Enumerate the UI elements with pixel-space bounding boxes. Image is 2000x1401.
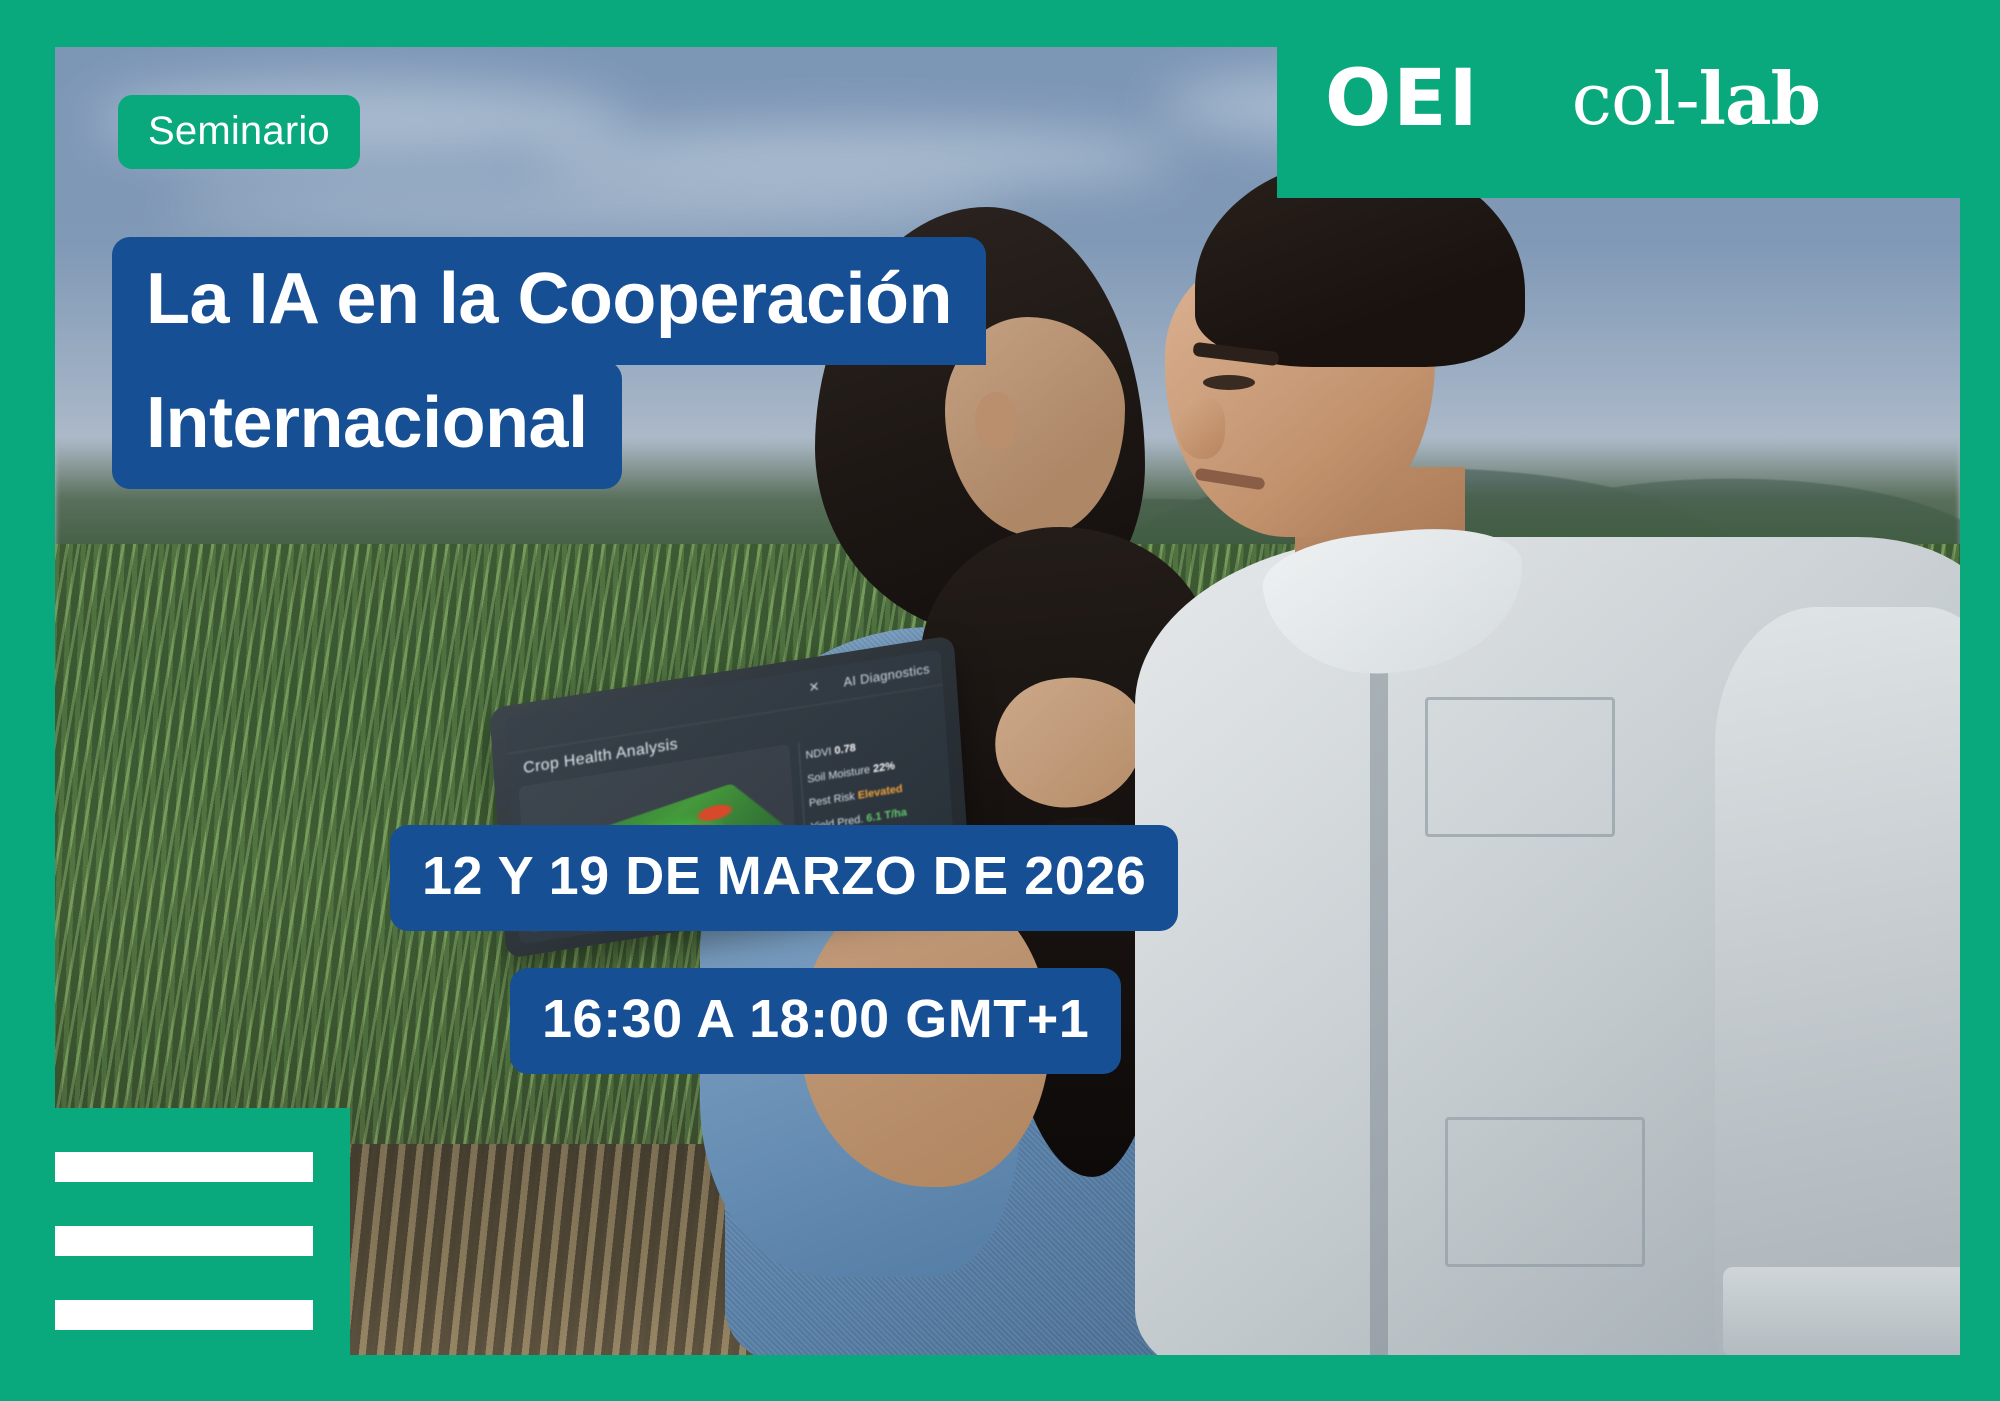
metric-label: Pest Risk [809, 790, 856, 809]
man-shirt-placket [1370, 637, 1388, 1355]
man-arm [1715, 607, 1960, 1355]
decor-bar [55, 1152, 313, 1182]
metric-label: NDVI [805, 746, 832, 762]
metric-value: 22% [873, 760, 896, 775]
tablet-close-icon: ✕ [808, 678, 820, 696]
poster-canvas: ✕ AI Diagnostics Crop Health Analysis ND… [0, 0, 2000, 1401]
metric-value: 0.78 [834, 742, 856, 757]
decorative-bars-block [55, 1108, 350, 1398]
event-time: 16:30 A 18:00 GMT+1 [510, 968, 1121, 1074]
metric-label: Soil Moisture [807, 764, 871, 786]
title-line-2: Internacional [112, 361, 622, 489]
cloud-shape [531, 126, 1179, 188]
man-nose [1177, 397, 1225, 459]
left-green-strip [0, 1108, 60, 1401]
collab-logo-separator: - [1675, 57, 1698, 141]
person-man [1115, 137, 1960, 1355]
event-date: 12 Y 19 DE MARZO DE 2026 [390, 825, 1178, 931]
man-cuff [1723, 1267, 1960, 1355]
metric-value: 6.1 T/ha [866, 807, 907, 825]
collab-logo-bold: lab [1699, 56, 1820, 141]
oei-logo[interactable]: OEI [1325, 60, 1480, 138]
man-lower-pocket [1445, 1117, 1645, 1267]
page-title: La IA en la Cooperación Internacional [112, 237, 986, 489]
tablet-tab-label: AI Diagnostics [843, 661, 930, 690]
title-line-1: La IA en la Cooperación [112, 237, 986, 365]
metric-value: Elevated [857, 783, 903, 802]
decor-bar [55, 1226, 313, 1256]
collab-logo-light: col [1572, 57, 1676, 141]
seminario-badge: Seminario [118, 95, 360, 169]
man-chest-pocket [1425, 697, 1615, 837]
collab-logo[interactable]: col-lab [1572, 63, 1820, 135]
decor-bar [55, 1300, 313, 1330]
logo-bar: OEI col-lab [1277, 0, 2000, 198]
man-eye [1203, 375, 1255, 390]
